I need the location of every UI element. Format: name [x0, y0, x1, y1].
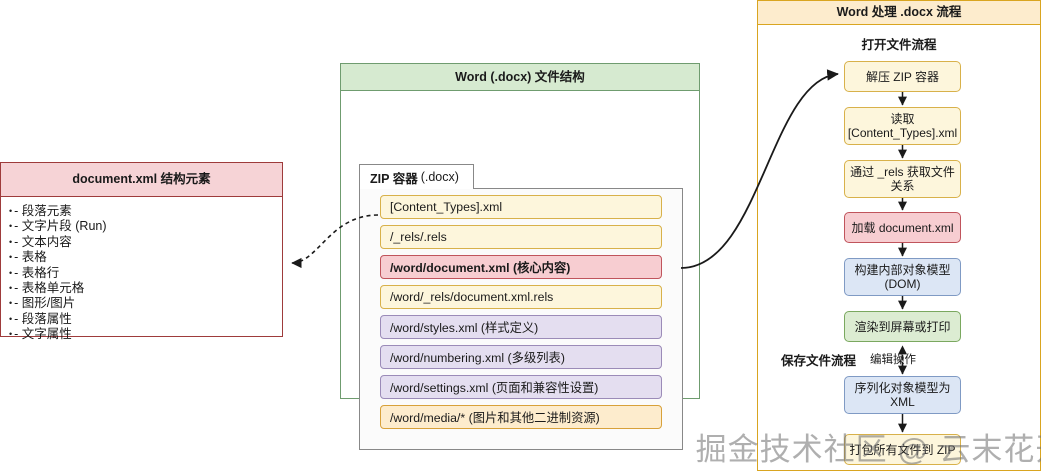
- structure-element-label: - 文字片段 (Run): [14, 219, 106, 233]
- docx-file-structure-panel: Word (.docx) 文件结构 ZIP 容器 (.docx) [Conten…: [340, 63, 700, 399]
- zip-file-item: /word/styles.xml (样式定义): [380, 315, 662, 339]
- flow-node-read-content-types: 读取[Content_Types].xml: [844, 107, 961, 145]
- flow-node-unzip: 解压 ZIP 容器: [844, 61, 961, 92]
- structure-element-label: - 文字属性: [14, 327, 72, 341]
- structure-element-label: - 图形/图片: [14, 296, 75, 310]
- structure-element-label: - 段落属性: [14, 312, 72, 326]
- flow-node-load-document-xml: 加载 document.xml: [844, 212, 961, 243]
- word-processing-flow-title: Word 处理 .docx 流程: [758, 1, 1040, 25]
- zip-file-list: [Content_Types].xml/_rels/.rels/word/doc…: [360, 189, 682, 435]
- flow-node-build-dom: 构建内部对象模型(DOM): [844, 258, 961, 296]
- structure-element-item: •- 段落属性: [9, 312, 282, 327]
- zip-file-item: /word/settings.xml (页面和兼容性设置): [380, 375, 662, 399]
- structure-element-item: •- 文字片段 (Run): [9, 219, 282, 234]
- zip-file-item: /word/media/* (图片和其他二进制资源): [380, 405, 662, 429]
- flow-node-render: 渲染到屏幕或打印: [844, 311, 961, 342]
- list-bullet-icon: •: [9, 329, 12, 339]
- zip-container-tab: ZIP 容器 (.docx): [359, 164, 474, 189]
- flow-node-serialize: 序列化对象模型为XML: [844, 376, 961, 414]
- list-bullet-icon: •: [9, 221, 12, 231]
- document-xml-structure-title: document.xml 结构元素: [1, 163, 282, 197]
- list-bullet-icon: •: [9, 237, 12, 247]
- structure-element-item: •- 表格单元格: [9, 281, 282, 296]
- zip-container-box: [Content_Types].xml/_rels/.rels/word/doc…: [359, 188, 683, 450]
- structure-element-label: - 文本内容: [14, 235, 72, 249]
- word-processing-flow-panel: Word 处理 .docx 流程 打开文件流程 解压 ZIP 容器 读取[Con…: [757, 0, 1041, 471]
- zip-file-item: /word/numbering.xml (多级列表): [380, 345, 662, 369]
- structure-element-label: - 段落元素: [14, 204, 72, 218]
- structure-element-item: •- 文字属性: [9, 327, 282, 342]
- list-bullet-icon: •: [9, 314, 12, 324]
- structure-element-item: •- 表格行: [9, 266, 282, 281]
- watermark: 掘金技术社区 @ 云末花开: [722, 424, 1041, 468]
- structure-element-label: - 表格: [14, 250, 47, 264]
- list-bullet-icon: •: [9, 283, 12, 293]
- zip-file-item: /word/_rels/document.xml.rels: [380, 285, 662, 309]
- zip-container-tab-ext: (.docx): [421, 170, 459, 184]
- document-xml-structure-panel: document.xml 结构元素 •- 段落元素•- 文字片段 (Run)•-…: [0, 162, 283, 337]
- list-bullet-icon: •: [9, 252, 12, 262]
- list-bullet-icon: •: [9, 206, 12, 216]
- zip-file-item: [Content_Types].xml: [380, 195, 662, 219]
- zip-file-item: /_rels/.rels: [380, 225, 662, 249]
- docx-file-structure-title: Word (.docx) 文件结构: [341, 64, 699, 91]
- flow-node-read-rels: 通过 _rels 获取文件关系: [844, 160, 961, 198]
- zip-container-tab-bold: ZIP 容器: [370, 168, 418, 187]
- list-bullet-icon: •: [9, 298, 12, 308]
- list-bullet-icon: •: [9, 268, 12, 278]
- structure-element-item: •- 文本内容: [9, 235, 282, 250]
- structure-element-label: - 表格单元格: [14, 281, 84, 295]
- structure-element-item: •- 段落元素: [9, 204, 282, 219]
- document-xml-element-list: •- 段落元素•- 文字片段 (Run)•- 文本内容•- 表格•- 表格行•-…: [1, 197, 282, 343]
- structure-element-item: •- 表格: [9, 250, 282, 265]
- zip-file-item: /word/document.xml (核心内容): [380, 255, 662, 279]
- structure-element-label: - 表格行: [14, 266, 59, 280]
- save-file-flow-heading: 保存文件流程: [781, 350, 856, 369]
- structure-element-item: •- 图形/图片: [9, 296, 282, 311]
- open-file-flow-heading: 打开文件流程: [758, 34, 1040, 53]
- edit-operation-label: 编辑操作: [870, 351, 916, 367]
